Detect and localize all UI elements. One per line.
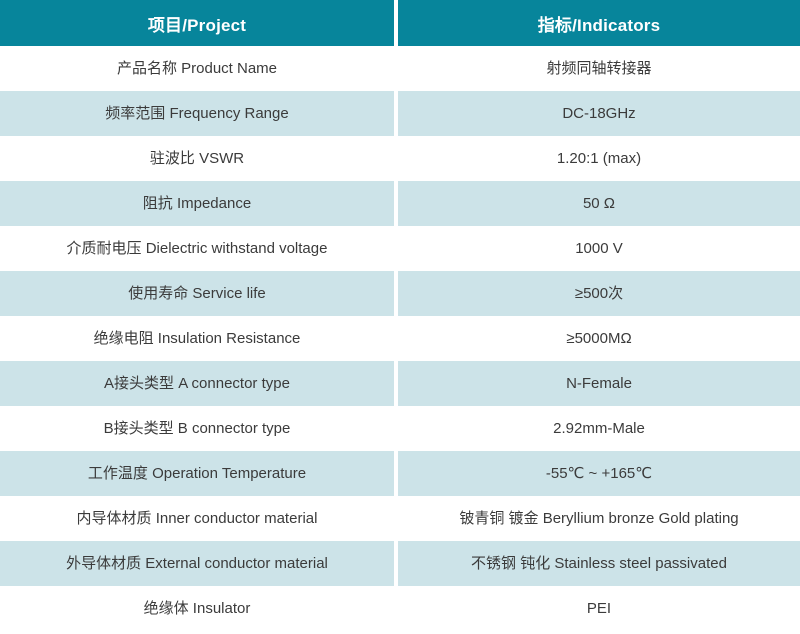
cell-indicator-value: 铍青铜 镀金 Beryllium bronze Gold plating: [398, 509, 800, 529]
table-row: 工作温度 Operation Temperature-55℃ ~ +165℃: [0, 451, 800, 496]
table-row: 产品名称 Product Name射频同轴转接器: [0, 46, 800, 91]
table-row: 外导体材质 External conductor material不锈钢 钝化 …: [0, 541, 800, 586]
cell-project-label: 阻抗 Impedance: [0, 194, 394, 214]
cell-indicator: ≥5000MΩ: [398, 316, 800, 361]
table-row: 驻波比 VSWR1.20:1 (max): [0, 136, 800, 181]
cell-indicator-value: 不锈钢 钝化 Stainless steel passivated: [398, 554, 800, 574]
cell-project-label: 驻波比 VSWR: [0, 149, 394, 169]
cell-indicator-value: 1.20:1 (max): [398, 149, 800, 169]
cell-project-label: 介质耐电压 Dielectric withstand voltage: [0, 239, 394, 259]
cell-project-label: 绝缘体 Insulator: [0, 599, 394, 619]
cell-indicator: ≥500次: [398, 271, 800, 316]
cell-project-label: 频率范围 Frequency Range: [0, 104, 394, 124]
cell-indicator-value: PEI: [398, 599, 800, 619]
cell-indicator-value: 2.92mm-Male: [398, 419, 800, 439]
table-row: A接头类型 A connector typeN-Female: [0, 361, 800, 406]
cell-project-label: 工作温度 Operation Temperature: [0, 464, 394, 484]
cell-indicator: 1000 V: [398, 226, 800, 271]
cell-indicator: -55℃ ~ +165℃: [398, 451, 800, 496]
cell-indicator: 2.92mm-Male: [398, 406, 800, 451]
table-row: 使用寿命 Service life≥500次: [0, 271, 800, 316]
cell-indicator: 射频同轴转接器: [398, 46, 800, 91]
cell-indicator: 50 Ω: [398, 181, 800, 226]
cell-indicator-value: ≥500次: [398, 284, 800, 304]
cell-indicator-value: DC-18GHz: [398, 104, 800, 124]
cell-project: 驻波比 VSWR: [0, 136, 394, 181]
cell-indicator-value: 50 Ω: [398, 194, 800, 214]
cell-project: 绝缘电阻 Insulation Resistance: [0, 316, 394, 361]
cell-project: 阻抗 Impedance: [0, 181, 394, 226]
cell-project: 外导体材质 External conductor material: [0, 541, 394, 586]
cell-indicator-value: ≥5000MΩ: [398, 329, 800, 349]
table-row: 频率范围 Frequency RangeDC-18GHz: [0, 91, 800, 136]
cell-project-label: 内导体材质 Inner conductor material: [0, 509, 394, 529]
cell-project: 绝缘体 Insulator: [0, 586, 394, 631]
cell-indicator-value: N-Female: [398, 374, 800, 394]
cell-project: 介质耐电压 Dielectric withstand voltage: [0, 226, 394, 271]
table-row: 绝缘体 InsulatorPEI: [0, 586, 800, 631]
column-header-project: 项目/Project: [0, 0, 394, 46]
table-row: 内导体材质 Inner conductor material铍青铜 镀金 Ber…: [0, 496, 800, 541]
cell-project-label: 产品名称 Product Name: [0, 59, 394, 79]
cell-project: A接头类型 A connector type: [0, 361, 394, 406]
column-header-indicator: 指标/Indicators: [398, 0, 800, 46]
cell-indicator-value: 1000 V: [398, 239, 800, 259]
cell-indicator: DC-18GHz: [398, 91, 800, 136]
cell-indicator: 不锈钢 钝化 Stainless steel passivated: [398, 541, 800, 586]
cell-project: 使用寿命 Service life: [0, 271, 394, 316]
cell-project: 工作温度 Operation Temperature: [0, 451, 394, 496]
cell-project-label: 外导体材质 External conductor material: [0, 554, 394, 574]
specification-table: 项目/Project 指标/Indicators 产品名称 Product Na…: [0, 0, 800, 631]
cell-project-label: 绝缘电阻 Insulation Resistance: [0, 329, 394, 349]
cell-project: B接头类型 B connector type: [0, 406, 394, 451]
cell-project: 产品名称 Product Name: [0, 46, 394, 91]
table-row: 绝缘电阻 Insulation Resistance≥5000MΩ: [0, 316, 800, 361]
table-body: 产品名称 Product Name射频同轴转接器频率范围 Frequency R…: [0, 46, 800, 631]
cell-indicator-value: 射频同轴转接器: [398, 59, 800, 79]
cell-project: 频率范围 Frequency Range: [0, 91, 394, 136]
table-header-row: 项目/Project 指标/Indicators: [0, 0, 800, 46]
cell-indicator: 铍青铜 镀金 Beryllium bronze Gold plating: [398, 496, 800, 541]
cell-project-label: A接头类型 A connector type: [0, 374, 394, 394]
cell-indicator: 1.20:1 (max): [398, 136, 800, 181]
cell-indicator-value: -55℃ ~ +165℃: [398, 464, 800, 484]
table-header: 项目/Project 指标/Indicators: [0, 0, 800, 46]
cell-project: 内导体材质 Inner conductor material: [0, 496, 394, 541]
table-row: B接头类型 B connector type2.92mm-Male: [0, 406, 800, 451]
cell-indicator: N-Female: [398, 361, 800, 406]
cell-indicator: PEI: [398, 586, 800, 631]
table-row: 阻抗 Impedance50 Ω: [0, 181, 800, 226]
cell-project-label: 使用寿命 Service life: [0, 284, 394, 304]
table-row: 介质耐电压 Dielectric withstand voltage1000 V: [0, 226, 800, 271]
cell-project-label: B接头类型 B connector type: [0, 419, 394, 439]
